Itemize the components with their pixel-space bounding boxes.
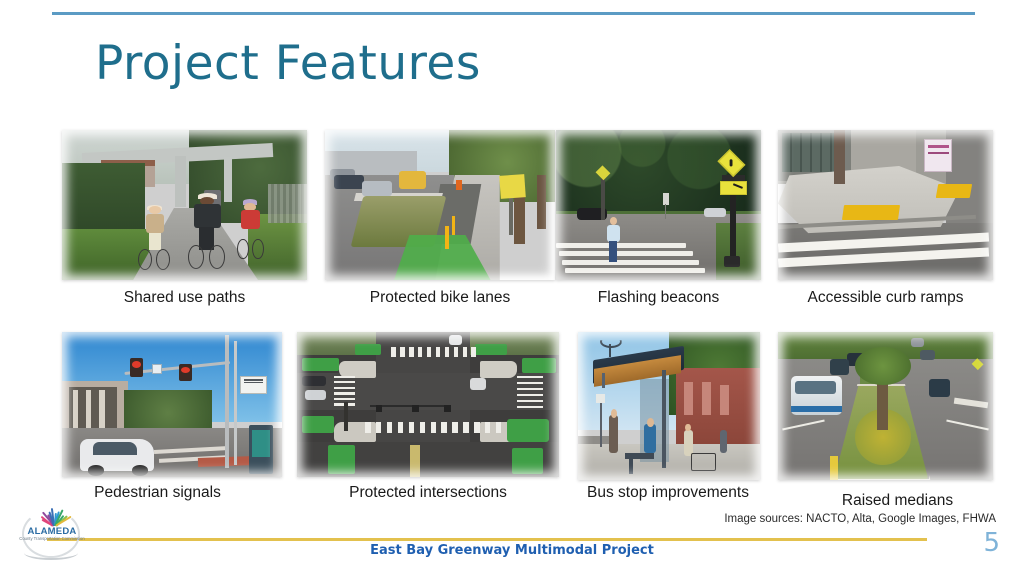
feature-card-flashing-beacons — [556, 130, 761, 280]
page-number: 5 — [983, 528, 1000, 558]
photo-shared-use-path-cyclists — [62, 130, 307, 280]
feature-caption-3: Flashing beacons — [556, 289, 761, 307]
red-beacon-icon-2 — [179, 364, 192, 381]
feature-card-accessible-curb-ramps — [778, 130, 993, 280]
photo-protected-bike-lane-street — [325, 130, 555, 280]
downward-arrow-sign-icon — [720, 181, 747, 195]
feature-card-protected-intersections — [297, 332, 559, 477]
feature-card-bus-stop-improvements — [578, 332, 760, 480]
image-sources-note: Image sources: NACTO, Alta, Google Image… — [724, 513, 996, 525]
feature-caption-6: Protected intersections — [297, 484, 559, 502]
alameda-ctc-logo: ALAMEDA County Transportation Commission — [14, 506, 90, 560]
feature-grid: Shared use paths Protected bike lanes — [0, 0, 1024, 562]
logo-sunburst-icon — [28, 508, 76, 526]
photo-bus-shelter-canopy — [578, 332, 760, 480]
footer-divider-rule — [47, 538, 927, 541]
feature-card-shared-use-paths — [62, 130, 307, 280]
photo-protected-intersection-aerial — [297, 332, 559, 477]
photo-landscaped-raised-median — [778, 332, 993, 480]
photo-hawk-beacon-signal-mast-arm — [62, 332, 282, 477]
feature-caption-4: Accessible curb ramps — [778, 289, 993, 307]
feature-caption-8: Raised medians — [790, 492, 1005, 510]
feature-card-pedestrian-signals — [62, 332, 282, 477]
logo-subtitle: County Transportation Commission — [14, 536, 90, 542]
photo-curb-ramp-truncated-domes — [778, 130, 993, 280]
feature-card-raised-medians — [778, 332, 993, 480]
photo-rrfb-crosswalk-pedestrian — [556, 130, 761, 280]
bicycle-icon — [691, 453, 716, 471]
feature-caption-7: Bus stop improvements — [568, 484, 768, 502]
detectable-warning-pad-2 — [936, 184, 973, 198]
footer-project-name: East Bay Greenway Multimodal Project — [0, 543, 1024, 558]
detectable-warning-pad — [841, 205, 899, 220]
logo-swoosh — [24, 546, 78, 560]
red-beacon-icon — [130, 358, 143, 377]
feature-caption-2: Protected bike lanes — [325, 289, 555, 307]
feature-caption-1: Shared use paths — [62, 289, 307, 307]
feature-card-protected-bike-lanes — [325, 130, 555, 280]
crosswalk-stripes — [556, 241, 708, 280]
feature-caption-5: Pedestrian signals — [50, 484, 265, 502]
